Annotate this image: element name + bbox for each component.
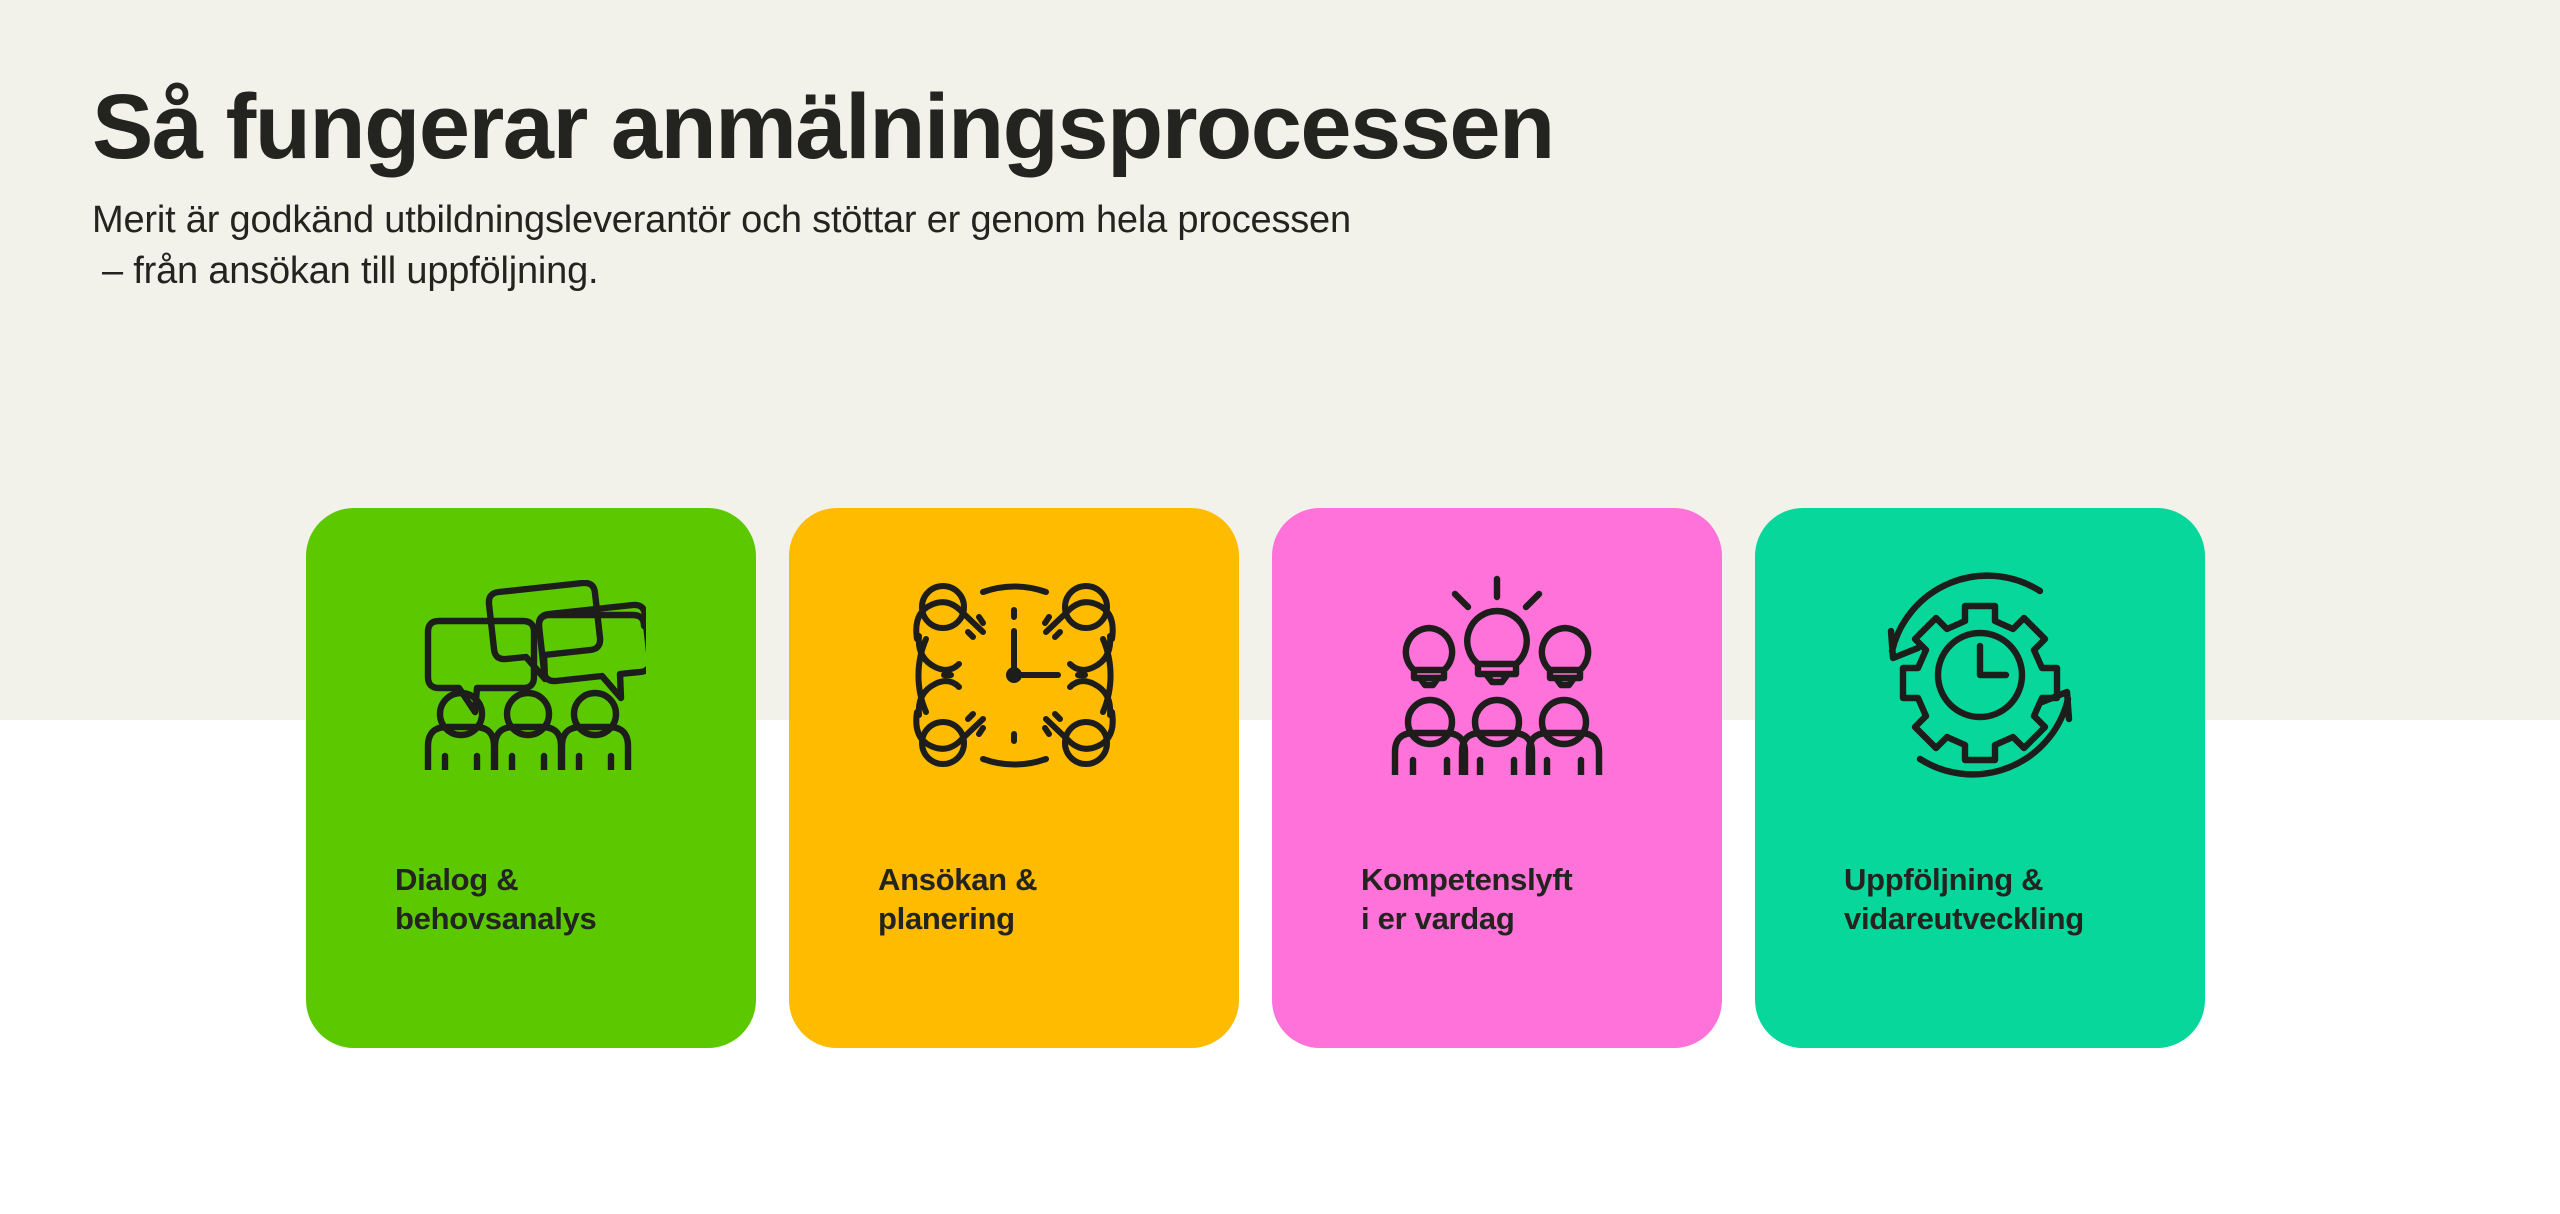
clock-teamwork-icon xyxy=(789,508,1239,808)
process-step-cards: Dialog & behovsanalys xyxy=(306,508,2205,1048)
card-label-ansokan: Ansökan & planering xyxy=(789,808,1239,938)
card-label-kompetenslyft: Kompetenslyft i er vardag xyxy=(1272,808,1722,938)
process-card-ansokan[interactable]: Ansökan & planering xyxy=(789,508,1239,1048)
process-card-dialog[interactable]: Dialog & behovsanalys xyxy=(306,508,756,1048)
process-card-uppfoljning[interactable]: Uppföljning & vidareutveckling xyxy=(1755,508,2205,1048)
page-subtitle: Merit är godkänd utbildningsleverantör o… xyxy=(92,195,2392,295)
page-title: Så fungerar anmälningsprocessen xyxy=(92,78,2392,177)
card-label-line-2: i er vardag xyxy=(1361,899,1722,938)
card-label-line-1: Uppföljning & xyxy=(1844,860,2205,899)
subtitle-line-1: Merit är godkänd utbildningsleverantör o… xyxy=(92,195,2392,245)
card-label-line-1: Kompetenslyft xyxy=(1361,860,1722,899)
process-card-kompetenslyft[interactable]: Kompetenslyft i er vardag xyxy=(1272,508,1722,1048)
speech-bubbles-people-icon xyxy=(306,508,756,808)
header-block: Så fungerar anmälningsprocessen Merit är… xyxy=(92,78,2392,296)
card-label-line-2: behovsanalys xyxy=(395,899,756,938)
card-label-dialog: Dialog & behovsanalys xyxy=(306,808,756,938)
card-label-line-1: Dialog & xyxy=(395,860,756,899)
card-label-line-1: Ansökan & xyxy=(878,860,1239,899)
gear-clock-cycle-icon xyxy=(1755,508,2205,808)
subtitle-line-2: – från ansökan till uppföljning. xyxy=(92,246,2392,296)
card-label-line-2: vidareutveckling xyxy=(1844,899,2205,938)
lightbulbs-people-icon xyxy=(1272,508,1722,808)
card-label-uppfoljning: Uppföljning & vidareutveckling xyxy=(1755,808,2205,938)
card-label-line-2: planering xyxy=(878,899,1239,938)
